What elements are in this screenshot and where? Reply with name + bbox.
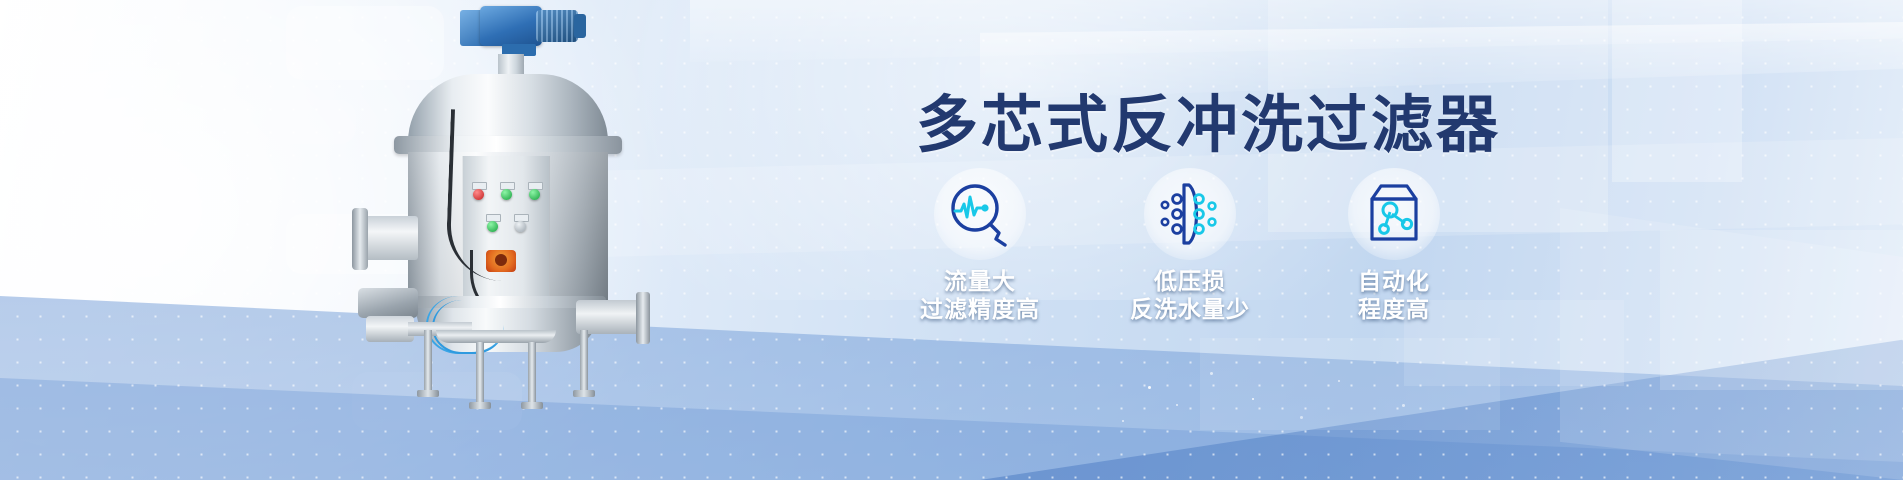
motor-end-cap xyxy=(574,14,586,38)
feature-label-flow: 流量大 过滤精度高 xyxy=(880,268,1080,324)
sparkle xyxy=(1176,404,1178,406)
gear-motor-body xyxy=(480,6,542,46)
valve-body xyxy=(366,316,414,342)
support-leg xyxy=(424,330,432,392)
page-title: 多芯式反冲洗过滤器 xyxy=(916,74,1501,164)
product-banner: 多芯式反冲洗过滤器 流量大 过滤精度高 xyxy=(0,0,1903,480)
sparkle xyxy=(1300,416,1303,419)
feature-label-automation: 自动化 程度高 xyxy=(1294,268,1494,324)
sparkle xyxy=(1210,372,1213,375)
feature-line-1: 低压损 xyxy=(1090,268,1290,296)
filter-membrane-particles-icon xyxy=(1144,168,1236,260)
outlet-flange xyxy=(636,292,650,344)
sparkle xyxy=(1252,398,1254,400)
sparkle xyxy=(1402,404,1405,407)
feature-item-automation: 自动化 程度高 xyxy=(1294,168,1494,324)
leg-foot xyxy=(417,390,439,397)
pneumatic-actuator xyxy=(358,288,418,318)
feature-label-pressure: 低压损 反洗水量少 xyxy=(1090,268,1290,324)
leg-foot xyxy=(469,402,491,409)
sparkle xyxy=(1338,380,1340,382)
sparkle xyxy=(1148,386,1151,389)
bg-rounded-rect-4 xyxy=(236,100,356,144)
support-leg xyxy=(580,330,588,392)
feature-line-1: 流量大 xyxy=(880,268,1080,296)
magnifier-waveform-icon xyxy=(934,168,1026,260)
feature-list: 流量大 过滤精度高 xyxy=(880,168,1540,328)
bg-right-soft-panel xyxy=(1660,230,1903,390)
outlet-pipe xyxy=(576,300,642,334)
inlet-nozzle xyxy=(360,216,418,260)
automation-box-network-icon xyxy=(1348,168,1440,260)
vessel-dome-lid xyxy=(408,74,608,142)
feature-item-pressure: 低压损 反洗水量少 xyxy=(1090,168,1290,324)
inlet-flange xyxy=(352,208,368,270)
leg-foot xyxy=(521,402,543,409)
feature-line-2: 过滤精度高 xyxy=(880,296,1080,324)
feature-line-1: 自动化 xyxy=(1294,268,1494,296)
support-leg xyxy=(528,342,536,404)
motor-cooling-fins xyxy=(536,10,578,42)
feature-line-2: 程度高 xyxy=(1294,296,1494,324)
feature-item-flow: 流量大 过滤精度高 xyxy=(880,168,1080,324)
drain-pipe xyxy=(436,330,556,343)
product-image xyxy=(352,0,652,380)
leg-foot xyxy=(573,390,595,397)
sparkle xyxy=(1122,420,1124,422)
feature-line-2: 反洗水量少 xyxy=(1090,296,1290,324)
support-leg xyxy=(476,342,484,404)
